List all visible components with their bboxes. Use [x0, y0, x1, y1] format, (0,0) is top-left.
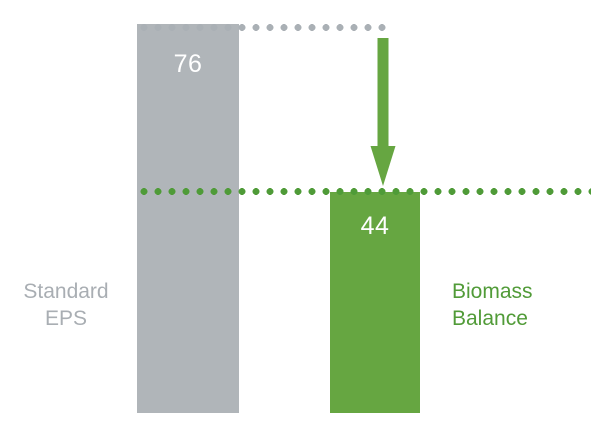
category-label-biomass-balance: Biomass Balance [452, 278, 592, 332]
reference-line-standard-eps [137, 24, 391, 31]
bar-value-standard-eps: 76 [137, 52, 239, 77]
category-label-standard-eps-line-1: Standard [2, 278, 130, 305]
comparison-bar-chart: 76 44 Standard EPS Biomass Balance [0, 0, 600, 427]
category-label-standard-eps-line-2: EPS [2, 305, 130, 332]
bar-value-biomass-balance: 44 [330, 214, 420, 239]
category-label-biomass-balance-line-1: Biomass [452, 278, 592, 305]
category-label-standard-eps: Standard EPS [2, 278, 130, 332]
reference-line-biomass-balance [137, 188, 591, 195]
reduction-arrow-icon [366, 38, 400, 188]
category-label-biomass-balance-line-2: Balance [452, 305, 592, 332]
bar-standard-eps[interactable] [137, 24, 239, 413]
